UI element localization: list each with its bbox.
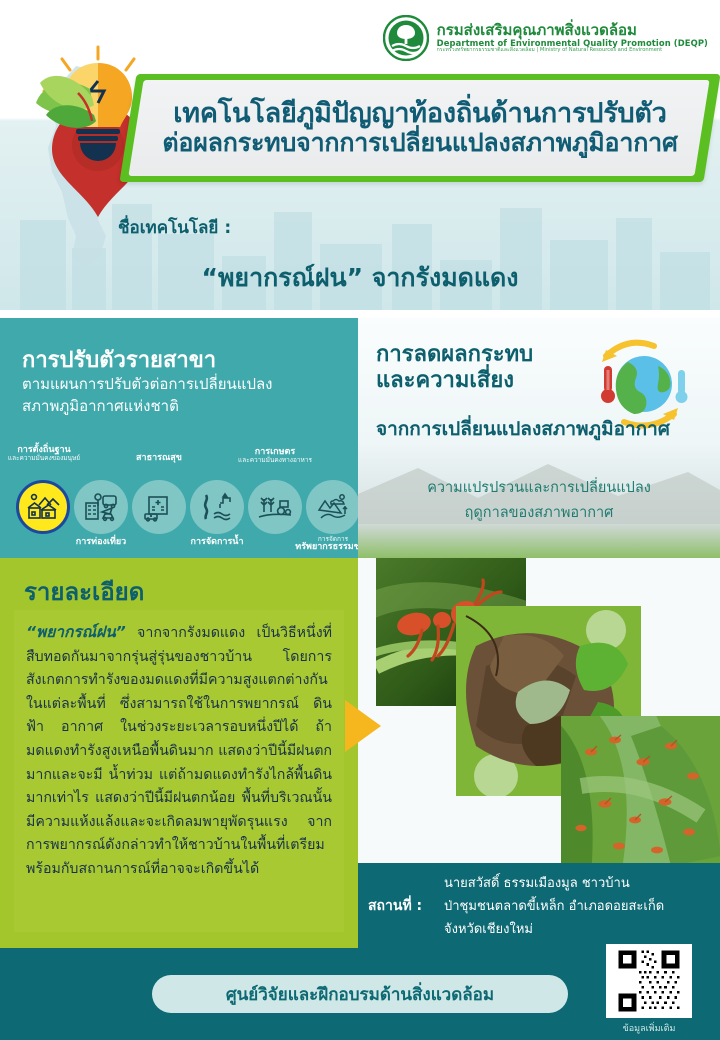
sector-subtitle-line-2: สภาพภูมิอากาศแห่งชาติ xyxy=(22,396,342,418)
public-health-hospital-icon xyxy=(132,480,186,534)
sector-item-settlement[interactable]: การตั้งถิ่นฐาน และความมั่นคงของมนุษย์ xyxy=(16,480,70,534)
detail-panel: รายละเอียด “พยากรณ์ฝน” จากจากรังมดแดง เป… xyxy=(0,558,358,948)
sector-adaptation-panel: การปรับตัวรายสาขา ตามแผนการปรับตัวต่อการ… xyxy=(0,318,358,558)
detail-lead-phrase: “พยากรณ์ฝน” xyxy=(26,623,126,641)
sector-item-public-health[interactable]: สาธารณสุข xyxy=(132,480,186,534)
place-line-1: นายสวัสดิ์ ธรรมเมืองมูล ชาวบ้าน xyxy=(444,873,712,896)
sector-label-natural-resources: การจัดการ xyxy=(278,536,358,543)
tourism-bus-car-icon xyxy=(74,480,128,534)
mitigation-title-line-1: การลดผลกระทบ xyxy=(376,342,606,368)
detail-body-text: “พยากรณ์ฝน” จากจากรังมดแดง เป็นวิธีหนึ่ง… xyxy=(14,610,344,932)
title-line-2: ต่อผลกระทบจากการเปลี่ยนแปลงสภาพภูมิอากาศ xyxy=(162,129,677,157)
detail-heading: รายละเอียด xyxy=(24,572,144,611)
mitigation-subtitle-line-2: ฤดูกาลของสภาพอากาศ xyxy=(358,501,720,526)
sector-label-tourism: การท่องเที่ยว xyxy=(46,538,156,547)
sector-sublabel-agriculture: และความมั่นคงทางอาหาร xyxy=(220,457,330,464)
sector-subtitle-line-1: ตามแผนการปรับตัวต่อการเปลี่ยนแปลง xyxy=(22,374,342,396)
green-side-strip xyxy=(0,558,10,876)
org-name-th: กรมส่งเสริมคุณภาพสิ่งแวดล้อม xyxy=(437,22,708,39)
mitigation-title-line-2: และความเสี่ยง xyxy=(376,368,606,394)
sector-label-water: การจัดการน้ำ xyxy=(162,538,272,547)
header-section: กรมส่งเสริมคุณภาพสิ่งแวดล้อม Department … xyxy=(0,0,720,310)
sector-sublabel-natural-resources: ทรัพยากรธรรมชาติ xyxy=(278,543,358,552)
mitigation-title-line-3: จากการเปลี่ยนแปลงสภาพภูมิอากาศ xyxy=(376,414,670,444)
title-line-1: เทคโนโลยีภูมิปัญญาท้องถิ่นด้านการปรับตัว xyxy=(173,99,666,129)
qr-code-icon[interactable] xyxy=(606,944,692,1018)
sector-caption-agriculture: การเกษตร และความมั่นคงทางอาหาร xyxy=(220,448,330,464)
qr-caption: ข้อมูลเพิ่มเติม xyxy=(606,1021,692,1035)
mitigation-subtitle: ความแปรปรวนและการเปลี่ยนแปลง ฤดูกาลของสภ… xyxy=(358,476,720,525)
sector-item-water-management[interactable]: การจัดการน้ำ xyxy=(190,480,244,534)
technology-name-label: ชื่อเทคโนโลยี : xyxy=(118,214,231,241)
mitigation-panel: การลดผลกระทบ และความเสี่ยง จากการเปลี่ยน… xyxy=(358,318,720,558)
natural-resource-mountain-icon xyxy=(306,480,358,534)
right-arrow-icon xyxy=(345,700,381,752)
page-title: เทคโนโลยีภูมิปัญญาท้องถิ่นด้านการปรับตัว… xyxy=(140,80,700,176)
sector-caption-water: การจัดการน้ำ xyxy=(162,538,272,547)
mitigation-title: การลดผลกระทบ และความเสี่ยง xyxy=(376,342,606,395)
deqp-logo: กรมส่งเสริมคุณภาพสิ่งแวดล้อม Department … xyxy=(383,14,708,62)
footer-center-name: ศูนย์วิจัยและฝึกอบรมด้านสิ่งแวดล้อม xyxy=(152,975,568,1013)
sector-panel-title: การปรับตัวรายสาขา xyxy=(22,342,216,377)
tree-water-circle-logo xyxy=(383,15,429,61)
sector-sublabel-settlement: และความมั่นคงของมนุษย์ xyxy=(0,455,99,462)
agriculture-wheat-tractor-icon xyxy=(248,480,302,534)
sector-item-tourism[interactable]: การท่องเที่ยว xyxy=(74,480,128,534)
sector-caption-natural-resources: การจัดการ ทรัพยากรธรรมชาติ xyxy=(278,536,358,552)
detail-paragraph: จากจากรังมดแดง เป็นวิธีหนึ่งที่สืบทอดกัน… xyxy=(26,625,332,877)
sector-icons-row: การตั้งถิ่นฐาน และความมั่นคงของมนุษย์ xyxy=(8,458,358,556)
place-info-bar: สถานที่ : นายสวัสดิ์ ธรรมเมืองมูล ชาวบ้า… xyxy=(358,863,720,948)
sector-item-agriculture[interactable]: การเกษตร และความมั่นคงทางอาหาร xyxy=(248,480,302,534)
weaver-ants-colony-on-leaves-photo xyxy=(561,716,720,864)
settlement-houses-icon xyxy=(16,480,70,534)
sector-label-public-health: สาธารณสุข xyxy=(104,454,214,463)
sector-caption-settlement: การตั้งถิ่นฐาน และความมั่นคงของมนุษย์ xyxy=(0,446,99,462)
technology-name-value: “พยากรณ์ฝน” จากรังมดแดง xyxy=(0,258,720,298)
place-line-3: จังหวัดเชียงใหม่ xyxy=(444,919,712,942)
place-value: นายสวัสดิ์ ธรรมเมืองมูล ชาวบ้าน ป่าชุมชน… xyxy=(444,873,712,941)
org-ministry: กระทรวงทรัพยากรธรรมชาติและสิ่งแวดล้อม | … xyxy=(437,48,708,54)
place-label: สถานที่ : xyxy=(368,895,422,917)
sector-item-natural-resources[interactable]: การจัดการ ทรัพยากรธรรมชาติ xyxy=(306,480,358,534)
photo-collage xyxy=(358,558,720,876)
sector-caption-public-health: สาธารณสุข xyxy=(104,454,214,463)
sector-panel-subtitle: ตามแผนการปรับตัวต่อการเปลี่ยนแปลง สภาพภู… xyxy=(22,374,342,418)
mitigation-subtitle-line-1: ความแปรปรวนและการเปลี่ยนแปลง xyxy=(358,476,720,501)
sector-caption-tourism: การท่องเที่ยว xyxy=(46,538,156,547)
place-line-2: ป่าชุมชนตลาดขี้เหล็ก อำเภอดอยสะเก็ด xyxy=(444,896,712,919)
water-management-icon xyxy=(190,480,244,534)
poster-root: กรมส่งเสริมคุณภาพสิ่งแวดล้อม Department … xyxy=(0,0,720,1040)
